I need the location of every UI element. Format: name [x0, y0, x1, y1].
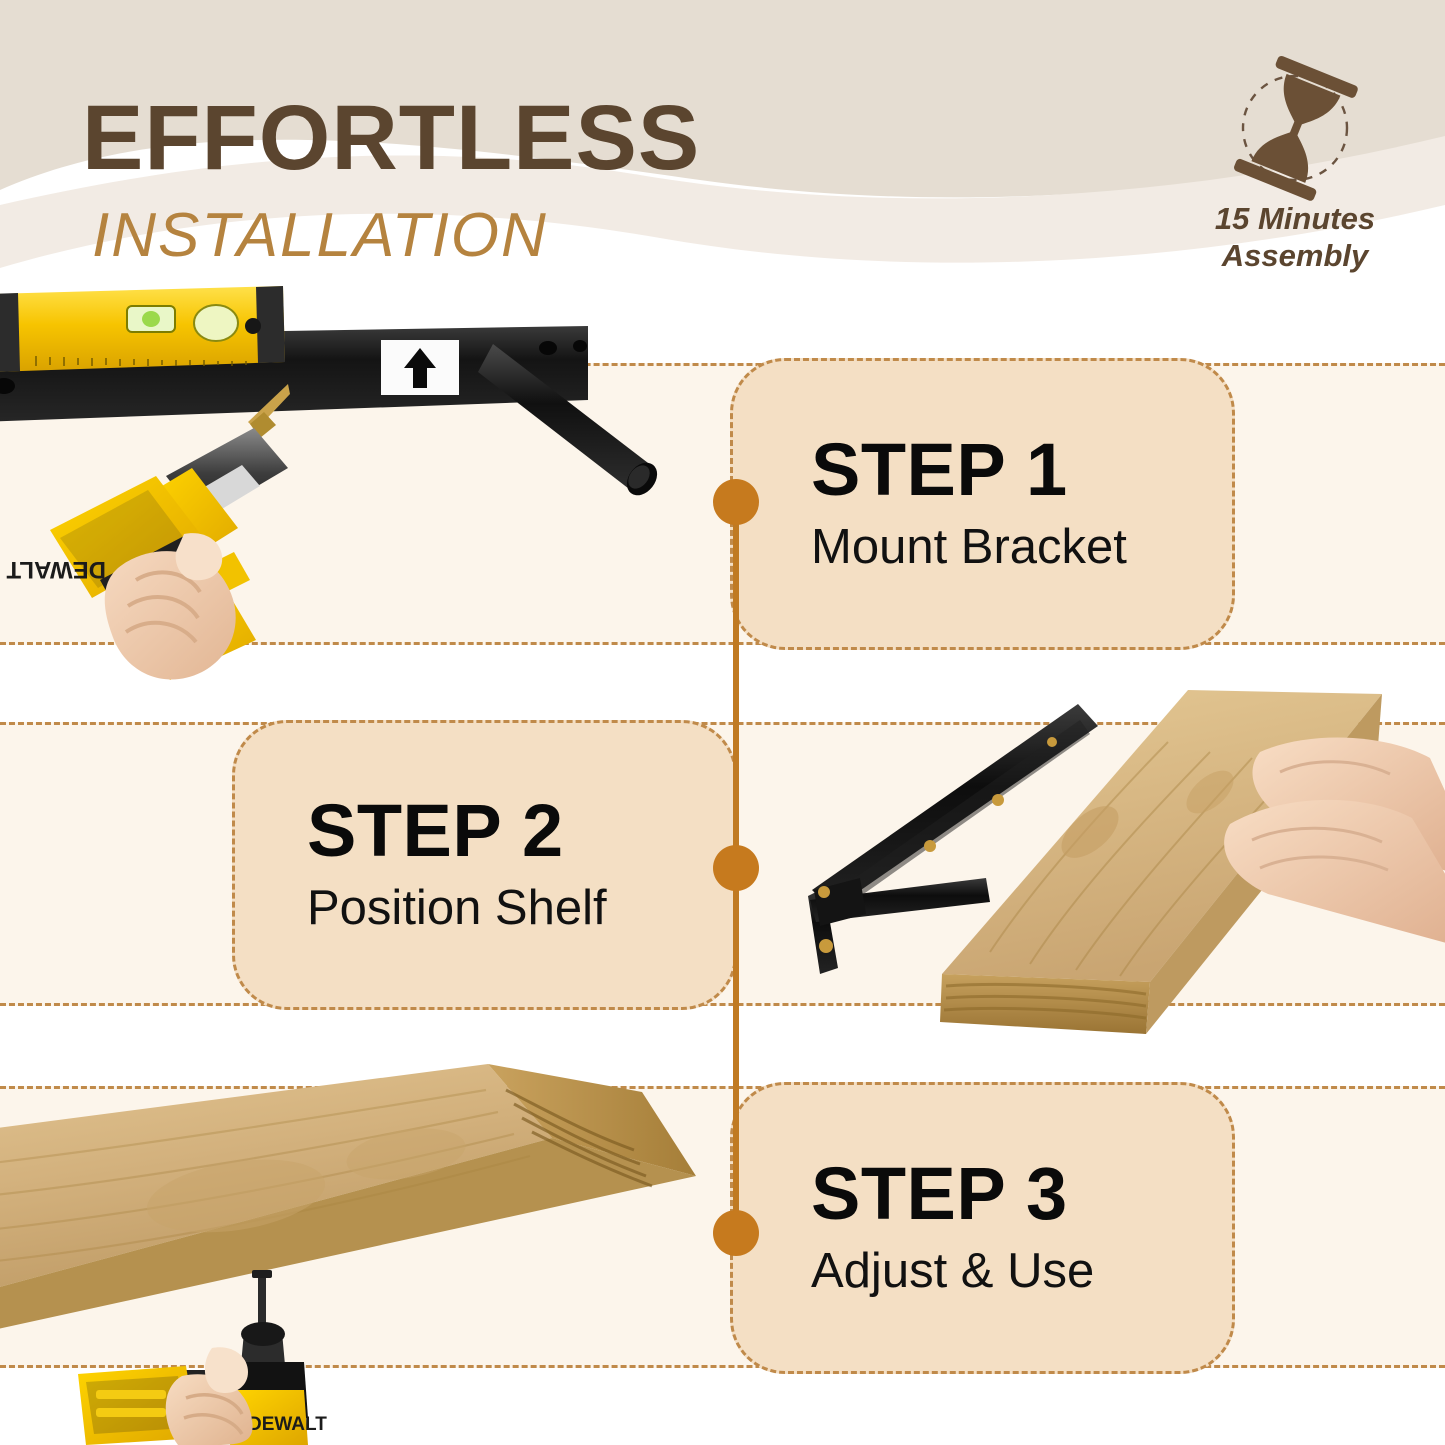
hand-holding-drill-step3	[166, 1347, 253, 1445]
assembly-time-line2: Assembly	[1175, 238, 1415, 275]
page-title: EFFORTLESS	[82, 92, 700, 184]
step-2-title: STEP 2	[307, 794, 734, 868]
step-card-1[interactable]: STEP 1 Mount Bracket	[730, 358, 1235, 650]
timeline-dot-step-3	[713, 1210, 759, 1256]
step-1-title: STEP 1	[811, 433, 1232, 507]
assembly-time-line1: 15 Minutes	[1175, 201, 1415, 238]
step-2-photo	[790, 682, 1445, 1054]
step-1-photo: DEWALT	[0, 280, 688, 660]
step-3-subtitle: Adjust & Use	[811, 1245, 1232, 1299]
step-card-1-body: STEP 1 Mount Bracket	[733, 433, 1232, 575]
assembly-time-badge: 15 Minutes Assembly	[1175, 60, 1415, 274]
mounted-shelf-board	[0, 1064, 696, 1336]
infographic-canvas: DEWALT	[0, 0, 1445, 1445]
step-card-2-body: STEP 2 Position Shelf	[235, 794, 734, 936]
step-card-3-body: STEP 3 Adjust & Use	[733, 1157, 1232, 1299]
arrow-sticker-icon	[381, 340, 459, 395]
header: EFFORTLESS INSTALLATION 15 Minutes As	[0, 0, 1445, 330]
assembly-time-text: 15 Minutes Assembly	[1175, 201, 1415, 274]
step-3-title: STEP 3	[811, 1157, 1232, 1231]
hourglass-icon	[1175, 60, 1415, 195]
hands-positioning-shelf	[1224, 738, 1445, 944]
page-subtitle: INSTALLATION	[92, 205, 548, 267]
timeline-dot-step-2	[713, 845, 759, 891]
step-2-subtitle: Position Shelf	[307, 882, 734, 936]
drill-brand-text: DEWALT	[248, 1414, 327, 1435]
step-card-2[interactable]: STEP 2 Position Shelf	[232, 720, 737, 1010]
timeline-dot-step-1	[713, 479, 759, 525]
step-1-subtitle: Mount Bracket	[811, 521, 1232, 575]
step-3-photo: DEWALT	[0, 1046, 726, 1445]
step-card-3[interactable]: STEP 3 Adjust & Use	[730, 1082, 1235, 1374]
drill-brand-text: DEWALT	[6, 556, 106, 583]
